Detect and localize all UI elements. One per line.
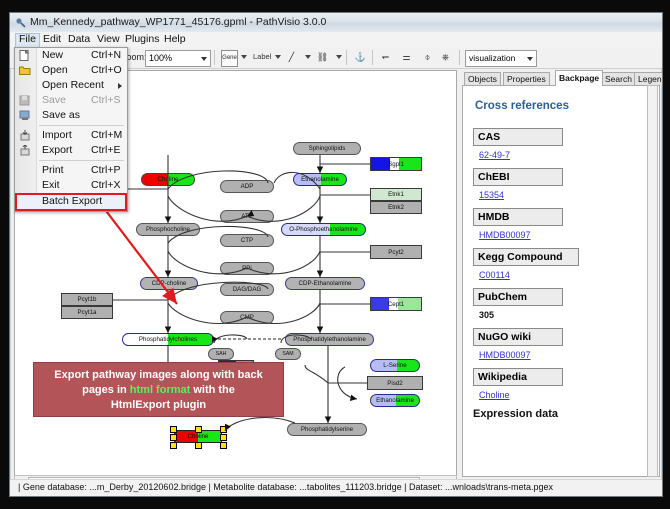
xref-label-nugo: NuGO wiki [473, 328, 563, 346]
xref-link-wikipedia[interactable]: Choline [479, 390, 510, 400]
file-menu-separator-2 [39, 160, 124, 161]
menu-item-import[interactable]: Import Ctrl+M [15, 128, 127, 143]
menu-edit[interactable]: Edit [39, 33, 65, 46]
status-bar-text: | Gene database: ...m_Derby_20120602.bri… [18, 482, 553, 492]
menu-item-open-accel: Ctrl+O [91, 63, 122, 78]
xref-value-hmdb: HMDB00097 [479, 230, 649, 240]
selection-handle[interactable] [220, 426, 227, 433]
toolbar-separator-4 [372, 50, 373, 65]
node-sah[interactable]: SAH [208, 348, 234, 360]
node-cdp-ethanolamine[interactable]: CDP-Ethanolamine [285, 277, 365, 290]
menu-plugins[interactable]: Plugins [121, 33, 163, 46]
callout-line-3: HtmlExport plugin [34, 398, 283, 413]
gene-etnk2[interactable]: Etnk2 [370, 201, 422, 214]
shape-tool-button[interactable]: ⛓ [315, 50, 330, 65]
menu-item-open[interactable]: Open Ctrl+O [15, 63, 127, 78]
selection-handle[interactable] [170, 442, 177, 449]
menu-item-new-accel: Ctrl+N [91, 48, 121, 63]
menu-item-new[interactable]: New Ctrl+N [15, 48, 127, 63]
menu-help[interactable]: Help [160, 33, 190, 46]
gene-pcyt1b[interactable]: Pcyt1b [61, 293, 113, 306]
menu-item-print-label: Print [42, 163, 64, 178]
align-rows-button[interactable]: ⚌ [399, 50, 414, 65]
gene-pisd2[interactable]: Pisd2 [367, 376, 423, 390]
pathvisio-app-icon [15, 17, 26, 28]
backpage-content[interactable]: Cross references CAS 62-49-7 ChEBI 15354… [462, 85, 660, 477]
export-icon [19, 145, 31, 156]
menu-item-export-label: Export [42, 143, 72, 158]
node-sphingolipids[interactable]: Sphingolipids [293, 142, 361, 155]
title-bar: Mm_Kennedy_pathway_WP1771_45176.gpml - P… [10, 13, 662, 33]
menu-item-save-accel: Ctrl+S [91, 93, 120, 108]
visualization-value: visualization [469, 53, 515, 63]
status-bar: | Gene database: ...m_Derby_20120602.bri… [10, 479, 662, 496]
selection-handle[interactable] [195, 426, 202, 433]
menu-item-save-as[interactable]: Save as [15, 108, 127, 123]
backpage-title: Cross references [475, 100, 649, 112]
menu-item-export[interactable]: Export Ctrl+E [15, 143, 127, 158]
xref-label-kegg: Kegg Compound [473, 248, 579, 266]
open-folder-icon [19, 65, 31, 76]
node-ctp[interactable]: CTP [220, 234, 274, 247]
node-dag-dag[interactable]: DAG/DAG [220, 283, 274, 296]
menu-item-open-recent-label: Open Recent [42, 78, 104, 93]
node-cdp-choline[interactable]: CDP-choline [140, 277, 198, 290]
toolbar-separator-2 [214, 50, 215, 65]
menu-item-batch-export[interactable]: Batch Export [15, 193, 127, 211]
gene-tool-chevron-down-icon[interactable] [241, 55, 247, 59]
chevron-down-icon [527, 57, 533, 61]
label-tool-button[interactable]: Label [253, 52, 271, 61]
gene-cept1[interactable]: Cept1 [370, 297, 422, 311]
xref-value-nugo: HMDB00097 [479, 350, 649, 360]
menu-item-import-accel: Ctrl+M [91, 128, 122, 143]
tab-search[interactable]: Search [601, 72, 636, 86]
xref-value-chebi: 15354 [479, 190, 649, 200]
xref-value-kegg: C00114 [479, 270, 649, 280]
window-title: Mm_Kennedy_pathway_WP1771_45176.gpml - P… [30, 16, 326, 28]
xref-label-wikipedia: Wikipedia [473, 368, 563, 386]
xref-link-cas[interactable]: 62-49-7 [479, 150, 510, 160]
menu-item-batch-export-label: Batch Export [42, 195, 102, 207]
save-as-icon [19, 110, 31, 121]
menu-item-exit-accel: Ctrl+X [91, 178, 120, 193]
node-o-phosphoethanolamine[interactable]: O-Phosphoethanolamine [281, 223, 366, 236]
menu-view[interactable]: View [93, 33, 124, 46]
xref-label-pubchem: PubChem [473, 288, 563, 306]
menu-item-save: Save Ctrl+S [15, 93, 127, 108]
xref-value-cas: 62-49-7 [479, 150, 649, 160]
gene-etnk1[interactable]: Etnk1 [370, 188, 422, 201]
new-document-icon [19, 50, 31, 61]
pathvisio-window: Mm_Kennedy_pathway_WP1771_45176.gpml - P… [9, 12, 663, 497]
callout-line-2-prefix: pages in [82, 384, 130, 396]
xref-value-pubchem: 305 [479, 310, 649, 320]
menu-item-print-accel: Ctrl+P [91, 163, 120, 178]
file-menu-separator-1 [39, 125, 124, 126]
xref-link-kegg[interactable]: C00114 [479, 270, 510, 280]
menu-item-open-label: Open [42, 63, 68, 78]
side-panel: Objects Properties Backpage Search Legen… [462, 70, 658, 487]
node-ppi[interactable]: PPi [220, 262, 274, 275]
align-left-button[interactable]: ↽ [378, 50, 393, 65]
tab-backpage[interactable]: Backpage [555, 70, 603, 86]
menu-file[interactable]: File [15, 33, 40, 48]
chevron-down-icon [201, 57, 207, 61]
side-panel-tabs: Objects Properties Backpage Search Legen… [462, 70, 658, 85]
line-tool-chevron-down-icon[interactable] [305, 55, 311, 59]
visualization-combo[interactable]: visualization [465, 50, 537, 67]
menu-item-new-label: New [42, 48, 63, 63]
selection-handle[interactable] [170, 434, 177, 441]
menu-item-exit-label: Exit [42, 178, 60, 193]
menu-item-print[interactable]: Print Ctrl+P [15, 163, 127, 178]
node-ethanolamine[interactable]: Ethanolamine [293, 173, 347, 186]
expression-data-heading: Expression data [473, 408, 649, 420]
xref-label-cas: CAS [473, 128, 563, 146]
callout-line-1: Export pathway images along with back [34, 368, 283, 383]
label-tool-chevron-down-icon[interactable] [275, 55, 281, 59]
menu-item-save-label: Save [42, 93, 66, 108]
chevron-right-icon [118, 83, 122, 89]
xref-link-hmdb[interactable]: HMDB00097 [479, 230, 531, 240]
menu-data[interactable]: Data [64, 33, 94, 46]
selection-handle[interactable] [195, 442, 202, 449]
menu-item-exit[interactable]: Exit Ctrl+X [15, 178, 127, 193]
gene-pcyt1a[interactable]: Pcyt1a [61, 306, 113, 319]
selection-handle[interactable] [170, 426, 177, 433]
toolbar-separator-3 [346, 50, 347, 65]
xref-value-wikipedia: Choline [479, 390, 649, 400]
shape-tool-chevron-down-icon[interactable] [336, 55, 342, 59]
menu-item-import-label: Import [42, 128, 72, 143]
toolbar-separator-5 [459, 50, 460, 65]
tab-properties[interactable]: Properties [503, 72, 550, 86]
menu-bar: File Edit Data View Plugins Help [10, 32, 662, 48]
menu-item-open-recent[interactable]: Open Recent [15, 78, 127, 93]
backpage-vertical-scrollbar[interactable] [647, 85, 658, 477]
node-sam[interactable]: SAM [275, 348, 301, 360]
node-phosphatidylcholines[interactable]: Phosphatidylcholines [122, 333, 214, 346]
xref-label-chebi: ChEBI [473, 168, 563, 186]
callout-line-2-suffix: with the [190, 384, 235, 396]
tab-objects[interactable]: Objects [464, 72, 501, 86]
anchor-tool-button[interactable]: ⚓ [353, 50, 368, 65]
node-l-serine[interactable]: L-Serine [370, 359, 420, 372]
tab-legend[interactable]: Legend [634, 72, 663, 86]
node-phosphatidylethanolamine[interactable]: Phosphatidylethanolamine [285, 333, 374, 346]
gene-sgpl1[interactable]: Sgpl1 [370, 157, 422, 171]
callout-line-2: pages in html format with the [34, 383, 283, 398]
node-choline-top[interactable]: Choline [141, 173, 195, 186]
xref-link-nugo[interactable]: HMDB00097 [479, 350, 531, 360]
annotation-callout: Export pathway images along with back pa… [33, 362, 284, 417]
zoom-value: 100% [149, 53, 172, 63]
selection-handle[interactable] [220, 434, 227, 441]
callout-highlight: html format [130, 384, 191, 396]
menu-item-save-as-label: Save as [42, 108, 80, 123]
selection-handle[interactable] [220, 442, 227, 449]
screenshot-frame: Mm_Kennedy_pathway_WP1771_45176.gpml - P… [0, 0, 670, 509]
node-phosphatidylserine[interactable]: Phosphatidylserine [287, 423, 367, 436]
file-menu-dropdown[interactable]: New Ctrl+N Open Ctrl+O Open Recent Save … [14, 47, 128, 212]
group-button[interactable]: ⎈ [438, 50, 453, 65]
distribute-button[interactable]: ⌽ [420, 50, 435, 65]
node-adp[interactable]: ADP [220, 180, 274, 193]
node-cmp[interactable]: CMP [220, 311, 274, 324]
zoom-combo[interactable]: 100% [145, 50, 211, 67]
gene-pcyt2[interactable]: Pcyt2 [370, 245, 422, 259]
xref-link-chebi[interactable]: 15354 [479, 190, 504, 200]
line-tool-button[interactable]: ╱ [284, 50, 299, 65]
node-phosphocholine[interactable]: Phosphocholine [136, 223, 200, 236]
node-ethanolamine-bottom[interactable]: Ethanolamine [370, 394, 420, 407]
menu-item-export-accel: Ctrl+E [91, 143, 120, 158]
import-icon [19, 130, 31, 141]
save-disk-icon [19, 95, 31, 106]
xref-label-hmdb: HMDB [473, 208, 563, 226]
gene-tool-button[interactable]: Gene [221, 50, 238, 67]
node-atp[interactable]: ATP [220, 210, 274, 223]
